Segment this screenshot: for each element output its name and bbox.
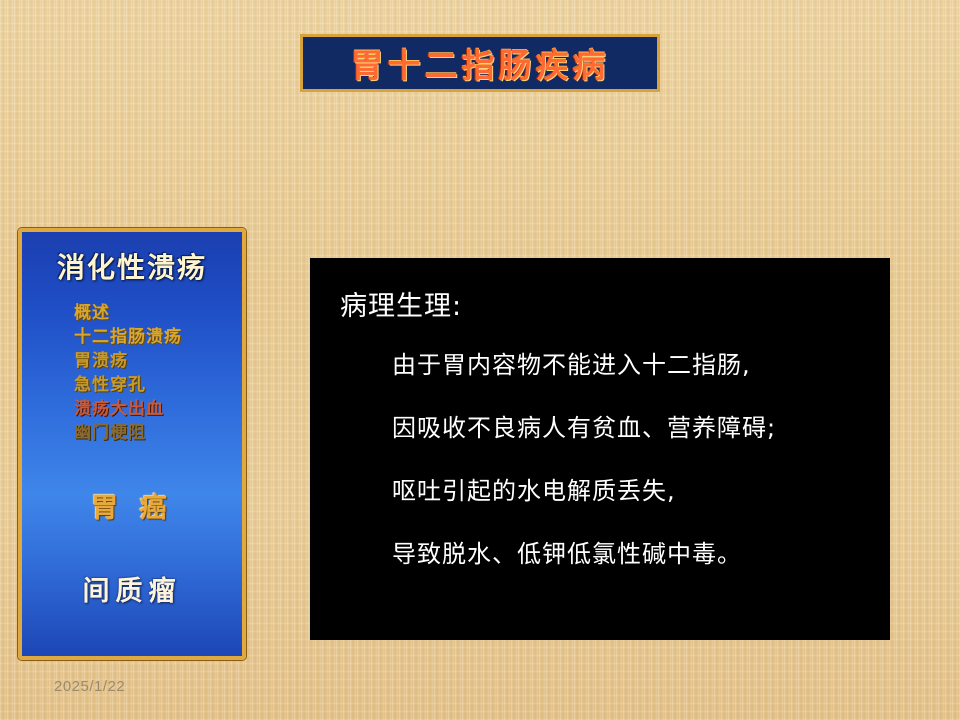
sidebar-item-pyloric-obstruction[interactable]: 幽门梗阻 [74,422,242,444]
content-box: 病理生理: 由于胃内容物不能进入十二指肠, 因吸收不良病人有贫血、营养障碍; 呕… [310,258,890,640]
page-title: 胃十二指肠疾病 [351,39,610,87]
content-line-2: 因吸收不良病人有贫血、营养障碍; [340,408,860,443]
sidebar-section-gastric-cancer[interactable]: 胃 癌 [22,486,242,525]
sidebar-item-list: 概述 十二指肠溃疡 胃溃疡 急性穿孔 溃疡大出血 幽门梗阻 [22,302,242,444]
sidebar-section-stromal-tumor[interactable]: 间质瘤 [22,569,242,608]
content-line-4: 导致脱水、低钾低氯性碱中毒。 [340,534,860,569]
sidebar-heading: 消化性溃疡 [22,246,242,286]
sidebar-nav-panel: 消化性溃疡 概述 十二指肠溃疡 胃溃疡 急性穿孔 溃疡大出血 幽门梗阻 胃 癌 … [18,228,246,660]
sidebar-item-overview[interactable]: 概述 [74,302,242,324]
content-line-3: 呕吐引起的水电解质丢失, [340,471,860,506]
sidebar-item-gastric-ulcer[interactable]: 胃溃疡 [74,350,242,372]
content-heading: 病理生理: [340,284,860,323]
slide-title-banner: 胃十二指肠疾病 [300,34,660,92]
footer-date: 2025/1/22 [54,678,125,695]
content-line-1: 由于胃内容物不能进入十二指肠, [340,345,860,380]
sidebar-item-acute-perforation[interactable]: 急性穿孔 [74,374,242,396]
slide: 胃十二指肠疾病 消化性溃疡 概述 十二指肠溃疡 胃溃疡 急性穿孔 溃疡大出血 幽… [0,0,960,720]
sidebar-item-duodenal-ulcer[interactable]: 十二指肠溃疡 [74,326,242,348]
sidebar-item-massive-bleeding[interactable]: 溃疡大出血 [74,398,242,420]
